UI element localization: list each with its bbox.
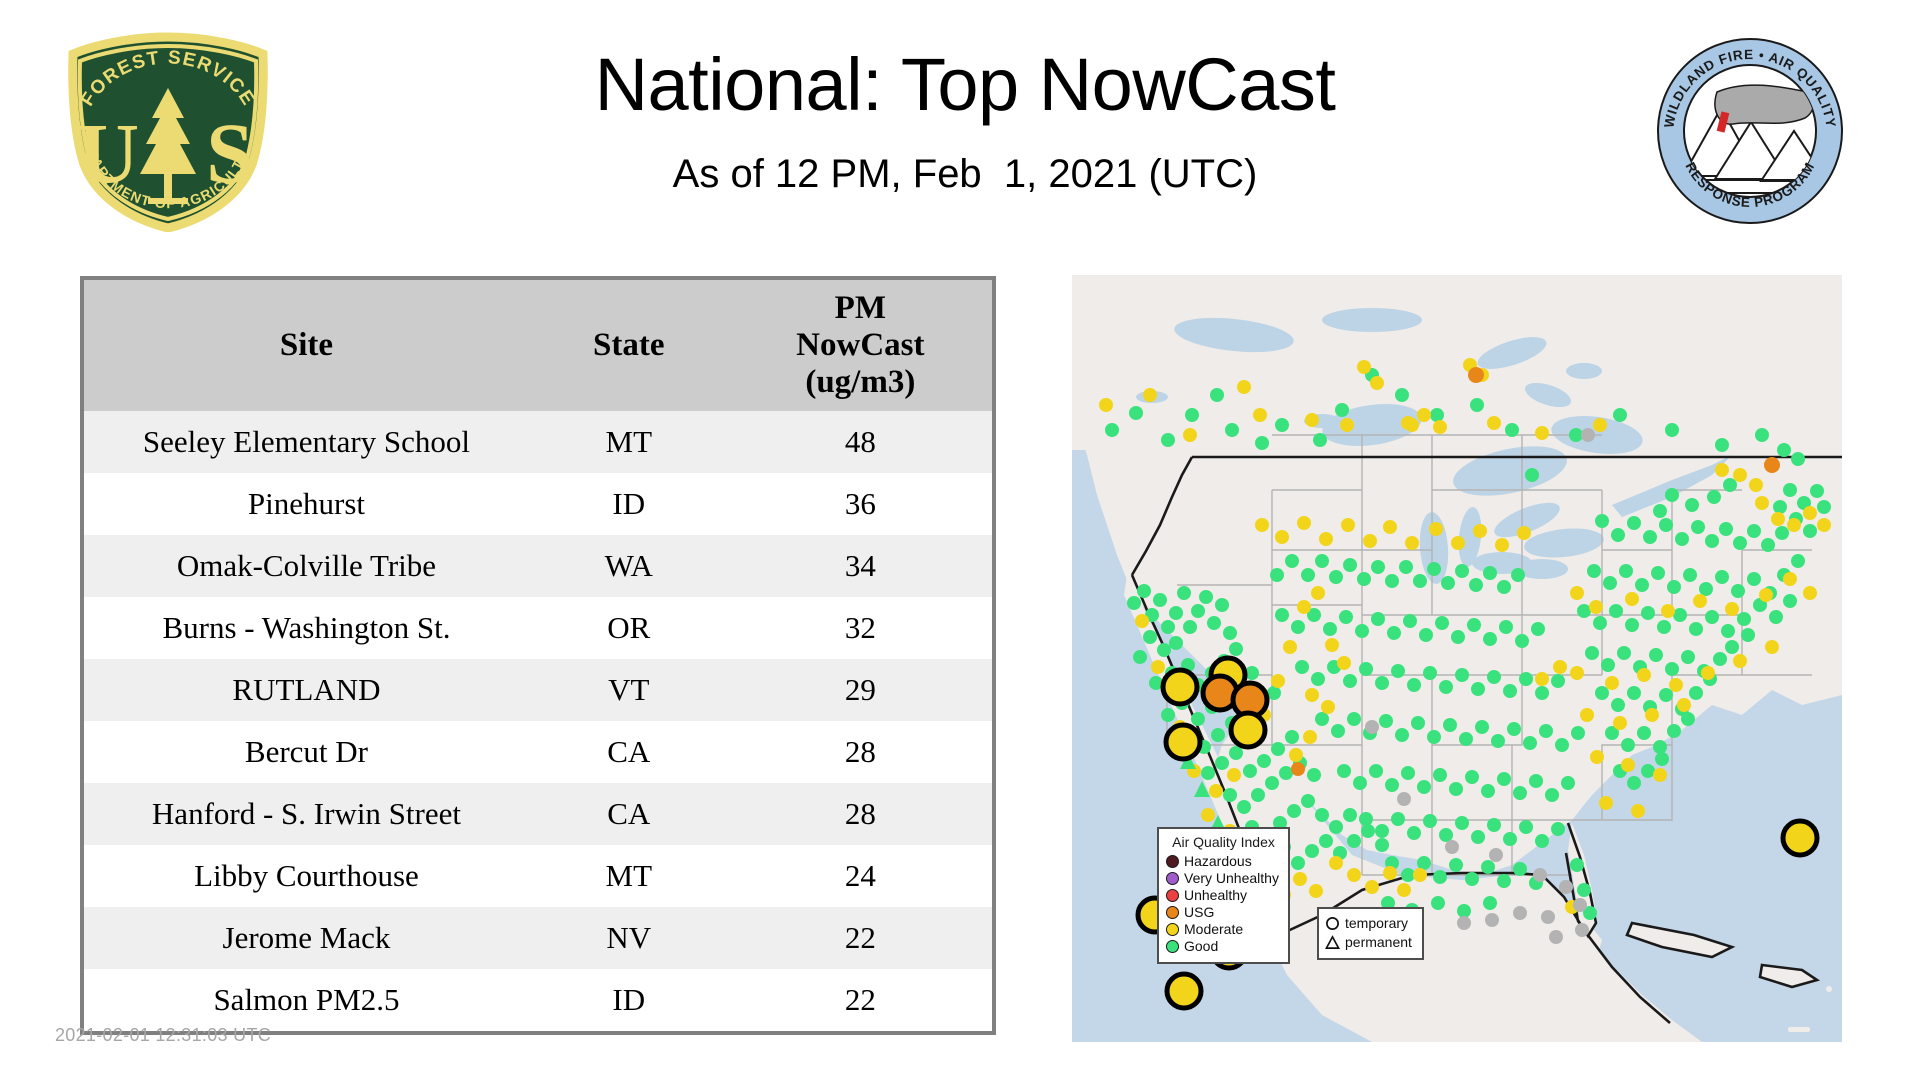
table-row: Hanford - S. Irwin Street CA 28	[84, 783, 992, 845]
generation-timestamp: 2021-02-01 12:31:03 UTC	[55, 1025, 271, 1046]
aqi-legend-item-moderate: Moderate	[1166, 921, 1281, 938]
cell-value: 24	[729, 845, 992, 907]
cell-value: 28	[729, 721, 992, 783]
cell-state: ID	[529, 473, 729, 535]
cell-state: CA	[529, 783, 729, 845]
cell-site: Seeley Elementary School	[84, 411, 529, 473]
aqi-swatch-good	[1166, 940, 1179, 953]
monitor-type-item-permanent: permanent	[1325, 933, 1416, 952]
monitor-type-item-temporary: temporary	[1325, 914, 1416, 933]
table-header: Site State PM NowCast (ug/m3)	[84, 280, 992, 411]
aqi-swatch-hazardous	[1166, 855, 1179, 868]
highlight-marker	[1166, 725, 1200, 759]
column-header-state: State	[529, 280, 729, 411]
cell-state: VT	[529, 659, 729, 721]
cell-value: 29	[729, 659, 992, 721]
wildland-fire-air-quality-response-program-logo: WILDLAND FIRE • AIR QUALITY RESPONSE PRO…	[1655, 36, 1845, 226]
aqi-legend-title: Air Quality Index	[1166, 834, 1281, 850]
cell-site: Burns - Washington St.	[84, 597, 529, 659]
cell-state: CA	[529, 721, 729, 783]
highlight-marker	[1163, 670, 1197, 704]
table-row: Burns - Washington St. OR 32	[84, 597, 992, 659]
cell-state: NV	[529, 907, 729, 969]
aqi-swatch-unhealthy	[1166, 889, 1179, 902]
page-subtitle: As of 12 PM, Feb 1, 2021 (UTC)	[300, 150, 1630, 198]
aqi-legend-item-hazardous: Hazardous	[1166, 853, 1281, 870]
cell-site: Libby Courthouse	[84, 845, 529, 907]
table-row: Seeley Elementary School MT 48	[84, 411, 992, 473]
triangle-icon	[1325, 935, 1340, 950]
usfs-shield-logo: FOREST SERVICE U S DEPARTMENT OF AGRICUL…	[58, 32, 278, 232]
aqi-legend-item-very-unhealthy: Very Unhealthy	[1166, 870, 1281, 887]
cell-value: 48	[729, 411, 992, 473]
column-header-pm-nowcast-line2: NowCast	[733, 327, 988, 364]
cell-site: Jerome Mack	[84, 907, 529, 969]
cell-value: 32	[729, 597, 992, 659]
cell-state: ID	[529, 969, 729, 1031]
cell-value: 36	[729, 473, 992, 535]
table-row: Jerome Mack NV 22	[84, 907, 992, 969]
cell-site: Omak-Colville Tribe	[84, 535, 529, 597]
aqi-label-unhealthy: Unhealthy	[1184, 888, 1247, 903]
cell-state: MT	[529, 845, 729, 907]
aqi-legend-item-good: Good	[1166, 938, 1281, 955]
column-header-pm-nowcast: PM NowCast (ug/m3)	[729, 280, 992, 411]
cell-value: 28	[729, 783, 992, 845]
aqi-label-moderate: Moderate	[1184, 922, 1243, 937]
page-header: FOREST SERVICE U S DEPARTMENT OF AGRICUL…	[0, 0, 1920, 270]
aqi-swatch-very-unhealthy	[1166, 872, 1179, 885]
cell-state: WA	[529, 535, 729, 597]
cell-value: 22	[729, 907, 992, 969]
aqi-legend: Air Quality Index Hazardous Very Unhealt…	[1157, 827, 1290, 964]
column-header-pm-nowcast-line1: PM	[733, 290, 988, 327]
circle-icon	[1325, 916, 1340, 931]
table-row: Omak-Colville Tribe WA 34	[84, 535, 992, 597]
cell-value: 22	[729, 969, 992, 1031]
table-row: RUTLAND VT 29	[84, 659, 992, 721]
cell-site: Salmon PM2.5	[84, 969, 529, 1031]
aqi-monitor-map[interactable]: Air Quality Index Hazardous Very Unhealt…	[1072, 275, 1842, 1042]
table-header-row: Site State PM NowCast (ug/m3)	[84, 280, 992, 411]
title-block: National: Top NowCast As of 12 PM, Feb 1…	[300, 40, 1630, 198]
aqi-label-good: Good	[1184, 939, 1218, 954]
aqi-swatch-usg	[1166, 906, 1179, 919]
table-row: Pinehurst ID 36	[84, 473, 992, 535]
table-row: Salmon PM2.5 ID 22	[84, 969, 992, 1031]
page-title: National: Top NowCast	[300, 40, 1630, 130]
cell-state: MT	[529, 411, 729, 473]
aqi-legend-item-usg: USG	[1166, 904, 1281, 921]
aqi-label-very-unhealthy: Very Unhealthy	[1184, 871, 1279, 886]
column-header-pm-nowcast-line3: (ug/m3)	[733, 364, 988, 401]
table-body: Seeley Elementary School MT 48 Pinehurst…	[84, 411, 992, 1031]
highlight-marker	[1231, 713, 1265, 747]
table-row: Bercut Dr CA 28	[84, 721, 992, 783]
monitor-type-label-permanent: permanent	[1345, 935, 1412, 950]
cell-site: Pinehurst	[84, 473, 529, 535]
cell-site: Hanford - S. Irwin Street	[84, 783, 529, 845]
aqi-legend-item-unhealthy: Unhealthy	[1166, 887, 1281, 904]
aqi-label-usg: USG	[1184, 905, 1214, 920]
cell-value: 34	[729, 535, 992, 597]
table-row: Libby Courthouse MT 24	[84, 845, 992, 907]
top-nowcast-table: Site State PM NowCast (ug/m3) Seeley Ele…	[84, 280, 992, 1031]
highlight-marker	[1167, 974, 1201, 1008]
monitor-type-legend: temporary permanent	[1317, 907, 1424, 960]
cell-state: OR	[529, 597, 729, 659]
monitor-type-label-temporary: temporary	[1345, 916, 1408, 931]
cell-site: RUTLAND	[84, 659, 529, 721]
top-nowcast-table-container: Site State PM NowCast (ug/m3) Seeley Ele…	[80, 276, 996, 1035]
cell-site: Bercut Dr	[84, 721, 529, 783]
aqi-swatch-moderate	[1166, 923, 1179, 936]
column-header-site: Site	[84, 280, 529, 411]
highlight-marker	[1783, 821, 1817, 855]
aqi-label-hazardous: Hazardous	[1184, 854, 1252, 869]
